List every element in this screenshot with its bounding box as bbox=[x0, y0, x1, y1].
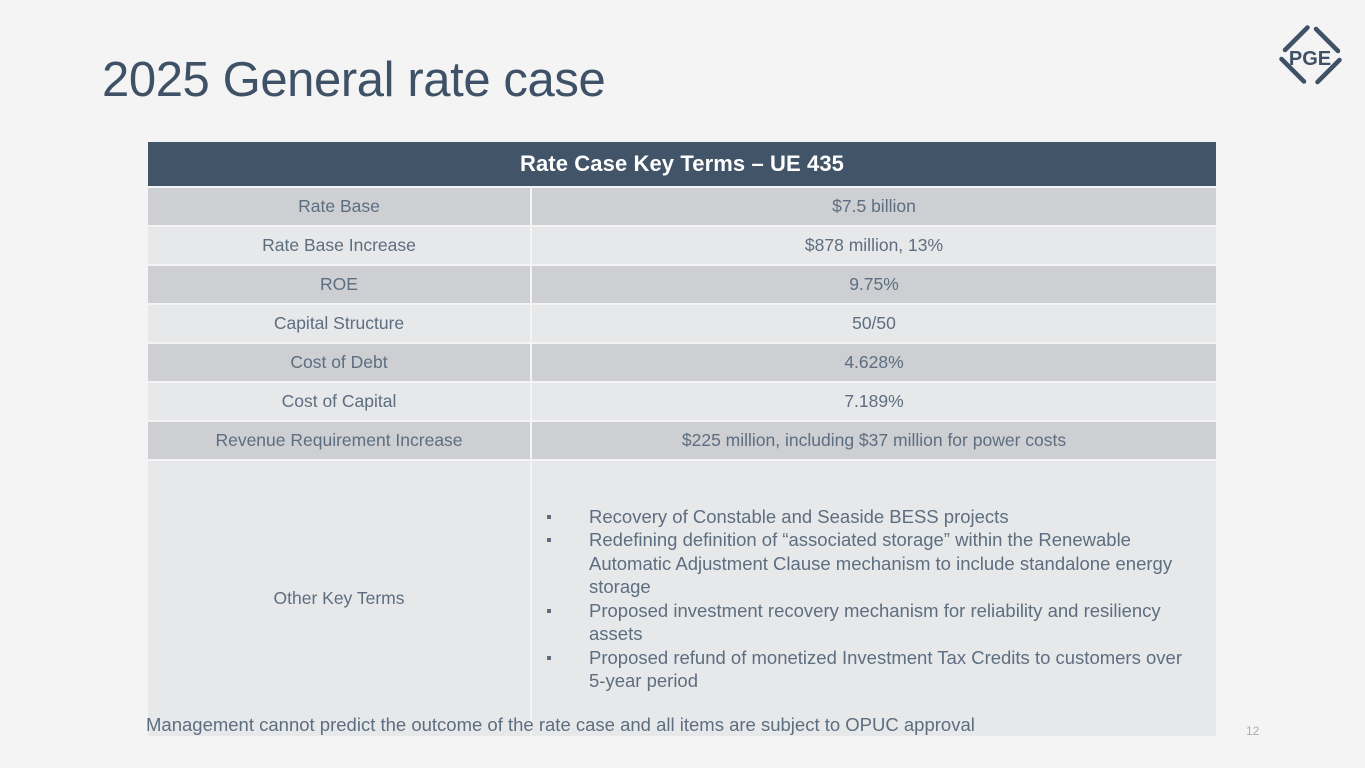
table-header: Rate Case Key Terms – UE 435 bbox=[148, 142, 1216, 186]
row-value: 7.189% bbox=[532, 383, 1216, 420]
other-key-terms-body: Recovery of Constable and Seaside BESS p… bbox=[532, 461, 1216, 736]
row-label: Capital Structure bbox=[148, 305, 530, 342]
pge-logo: PGE bbox=[1272, 20, 1348, 96]
page-number: 12 bbox=[1246, 724, 1259, 738]
table-row: Rate Base Increase $878 million, 13% bbox=[148, 227, 1216, 264]
row-label: Rate Base bbox=[148, 188, 530, 225]
row-value: $225 million, including $37 million for … bbox=[532, 422, 1216, 459]
list-item: Proposed refund of monetized Investment … bbox=[546, 646, 1202, 693]
rate-case-table: Rate Case Key Terms – UE 435 Rate Base $… bbox=[148, 142, 1216, 736]
list-item: Recovery of Constable and Seaside BESS p… bbox=[546, 505, 1202, 529]
row-label: Rate Base Increase bbox=[148, 227, 530, 264]
footer-note: Management cannot predict the outcome of… bbox=[146, 714, 975, 736]
table-row: Cost of Debt 4.628% bbox=[148, 344, 1216, 381]
list-item: Proposed investment recovery mechanism f… bbox=[546, 599, 1202, 646]
table-row: Capital Structure 50/50 bbox=[148, 305, 1216, 342]
pge-logo-text: PGE bbox=[1289, 48, 1331, 70]
table-row: ROE 9.75% bbox=[148, 266, 1216, 303]
other-key-terms-list: Recovery of Constable and Seaside BESS p… bbox=[532, 505, 1202, 693]
row-label: Other Key Terms bbox=[148, 461, 530, 736]
row-value: 50/50 bbox=[532, 305, 1216, 342]
row-value: $878 million, 13% bbox=[532, 227, 1216, 264]
row-label: Revenue Requirement Increase bbox=[148, 422, 530, 459]
table-row: Revenue Requirement Increase $225 millio… bbox=[148, 422, 1216, 459]
table-row: Cost of Capital 7.189% bbox=[148, 383, 1216, 420]
row-value: 9.75% bbox=[532, 266, 1216, 303]
table-row-other-key-terms: Other Key Terms Recovery of Constable an… bbox=[148, 461, 1216, 736]
page-title: 2025 General rate case bbox=[102, 54, 605, 107]
table-row: Rate Base $7.5 billion bbox=[148, 188, 1216, 225]
row-value: $7.5 billion bbox=[532, 188, 1216, 225]
row-label: Cost of Capital bbox=[148, 383, 530, 420]
row-label: Cost of Debt bbox=[148, 344, 530, 381]
list-item: Redefining definition of “associated sto… bbox=[546, 528, 1202, 599]
row-value: 4.628% bbox=[532, 344, 1216, 381]
row-label: ROE bbox=[148, 266, 530, 303]
